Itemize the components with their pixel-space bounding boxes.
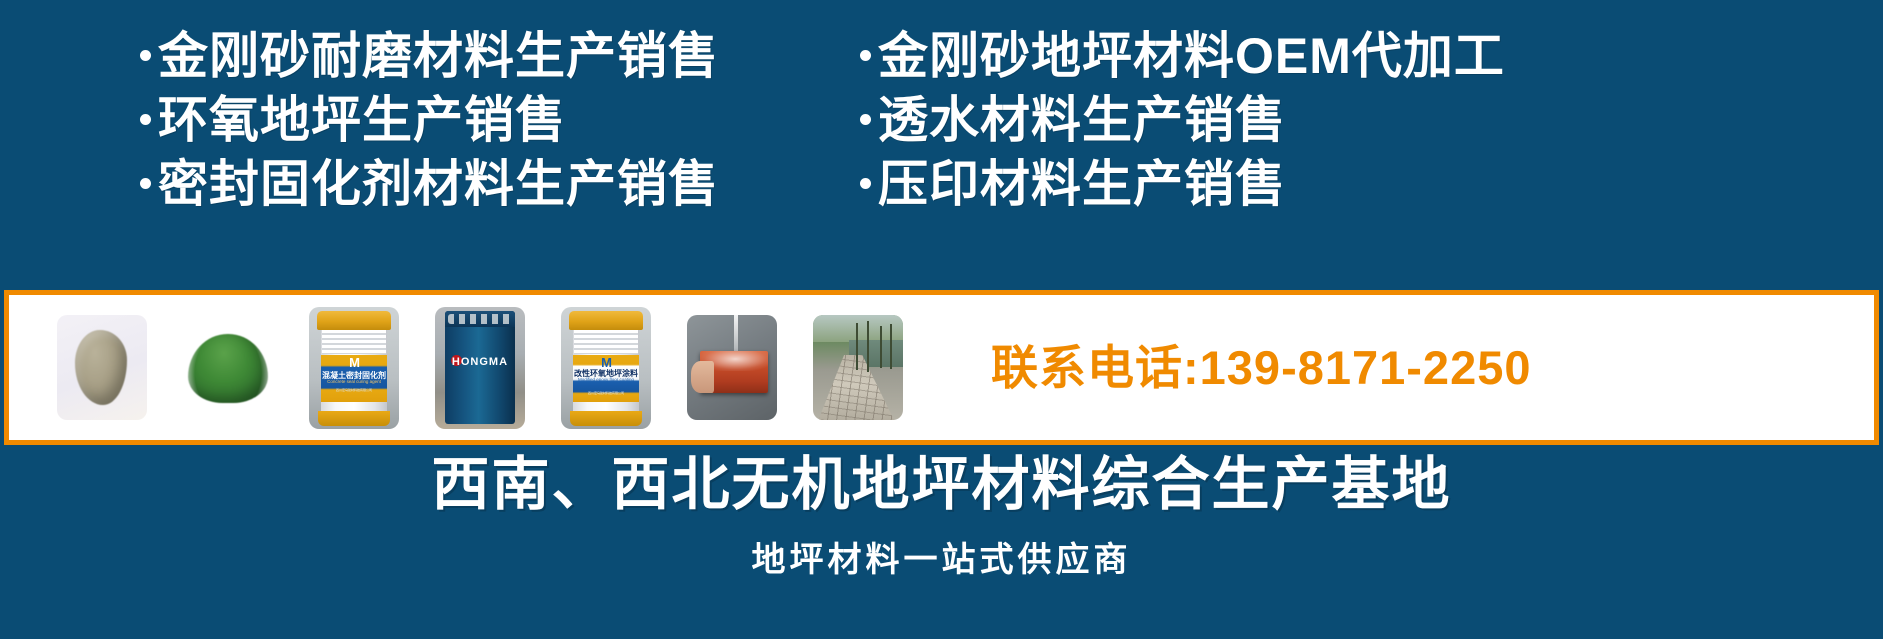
bucket-label: M 混凝土密封固化剂 Concrete seal curing agent 四川… [321,355,388,401]
tree-icon [856,323,858,369]
product-name-en: Concrete seal curing agent [327,379,381,385]
grey-powder-image [57,315,147,420]
brand-name-text: HONGMA [452,356,508,368]
product-gallery: M 混凝土密封固化剂 Concrete seal curing agent 四川… [57,295,939,440]
brand-mark-icon: M [349,356,359,370]
bucket-base [570,411,642,426]
drum-body: HONGMA [445,311,515,423]
feature-lists: 金刚砂耐磨材料生产销售 环氧地坪生产销售 密封固化剂材料生产销售 金刚砂地坪材料… [0,28,1883,283]
drum-bolts [448,314,513,324]
bullet-icon [860,178,871,189]
product-strip: M 混凝土密封固化剂 Concrete seal curing agent 四川… [4,290,1879,445]
brand-mark-icon: M [601,356,611,370]
powder-pile-shape [75,330,127,406]
feature-label: 金刚砂耐磨材料生产销售 [158,28,719,84]
green-powder-image [183,315,273,420]
feature-label: 压印材料生产销售 [878,156,1286,212]
tree-icon [890,324,892,368]
banner-headline: 西南、西北无机地坪材料综合生产基地 [0,452,1883,518]
feature-item: 密封固化剂材料生产销售 [140,156,840,212]
feature-label: 透水材料生产销售 [878,92,1286,148]
bullet-icon [860,114,871,125]
bucket-lid [317,311,391,329]
bucket-graphic: M 混凝土密封固化剂 Concrete seal curing agent 四川… [309,307,399,429]
tree-icon [867,321,869,371]
advertising-banner: 金刚砂耐磨材料生产销售 环氧地坪生产销售 密封固化剂材料生产销售 金刚砂地坪材料… [0,0,1883,639]
epoxy-floor-paint-bucket-image: M 改性环氧地坪涂料 Modified epoxy floor coating … [561,307,651,429]
bucket-graphic: M 改性环氧地坪涂料 Modified epoxy floor coating … [561,307,651,429]
feature-column-right: 金刚砂地坪材料OEM代加工 透水材料生产销售 压印材料生产销售 [860,28,1860,283]
permeable-concrete-sample-image [687,315,777,420]
tree-icon [880,326,882,368]
hand-holding-slab [691,361,714,393]
bucket-rings [574,330,639,354]
bullet-icon [860,50,871,61]
bullet-icon [140,114,151,125]
bucket-base [318,411,390,426]
banner-subheadline: 地坪材料一站式供应商 [0,540,1883,580]
feature-item: 压印材料生产销售 [860,156,1860,212]
feature-column-left: 金刚砂耐磨材料生产销售 环氧地坪生产销售 密封固化剂材料生产销售 [140,28,840,283]
label-fine-print: 四川宏马建材科技有限公司 [336,388,372,392]
bullet-icon [140,178,151,189]
label-fine-print: 四川宏马建材科技有限公司 [588,391,624,395]
feature-item: 环氧地坪生产销售 [140,92,840,148]
stamped-pavement-image [813,315,903,420]
hongma-drum-image: HONGMA [435,307,525,429]
feature-label: 密封固化剂材料生产销售 [158,156,719,212]
curing-agent-bucket-image: M 混凝土密封固化剂 Concrete seal curing agent 四川… [309,307,399,429]
feature-label: 环氧地坪生产销售 [158,92,566,148]
bucket-lid [569,311,643,329]
feature-label: 金刚砂地坪材料OEM代加工 [878,28,1505,84]
contact-phone[interactable]: 联系电话:139-8171-2250 [991,343,1532,393]
product-name-en: Modified epoxy floor coating [578,377,634,383]
feature-item: 金刚砂地坪材料OEM代加工 [860,28,1860,84]
bucket-rings [322,330,387,354]
powder-halo [183,315,273,420]
bullet-icon [140,50,151,61]
feature-item: 金刚砂耐磨材料生产销售 [140,28,840,84]
bucket-label: M 改性环氧地坪涂料 Modified epoxy floor coating … [573,355,640,401]
feature-item: 透水材料生产销售 [860,92,1860,148]
